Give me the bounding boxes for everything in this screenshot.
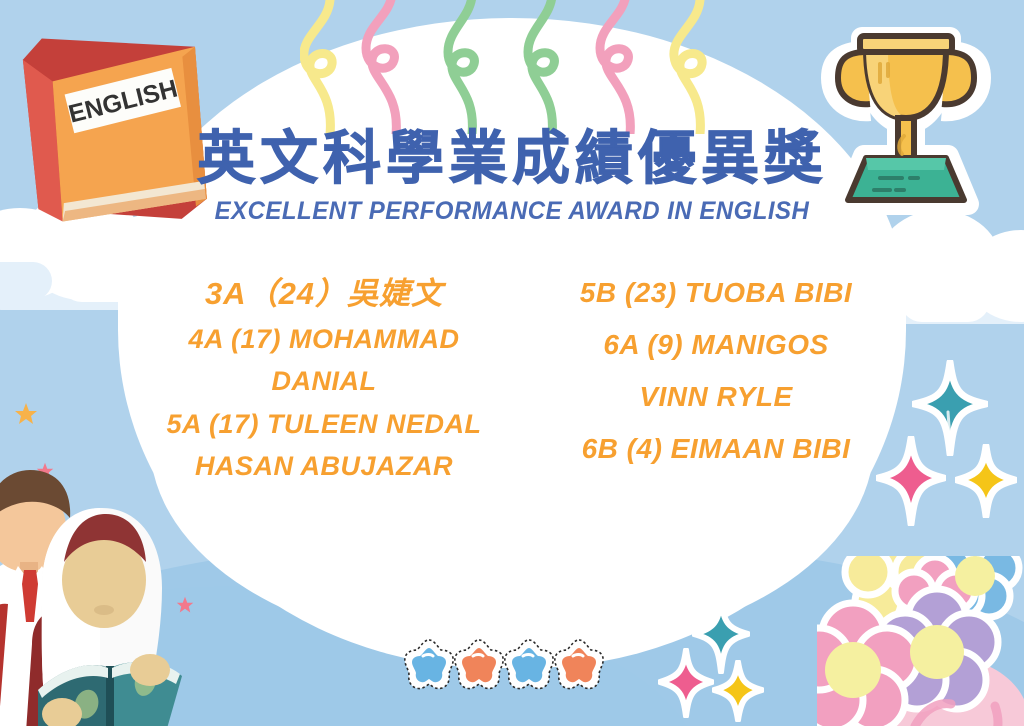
star-sticker-row [404, 634, 604, 704]
awardee-name: 3A（24）吳婕文 [140, 272, 508, 316]
award-poster: ENGLISH 英文科學業成績優異獎 EXCELLEN [0, 0, 1024, 726]
sparkle-icon-yellow [712, 660, 764, 722]
small-star-icon [14, 402, 38, 426]
awardee-name: 6B (4) EIMAAN BIBI [532, 428, 900, 470]
awardee-column-left: 3A（24）吳婕文 4A (17) MOHAMMAD DANIAL 5A (17… [140, 272, 508, 489]
awardee-list: 3A（24）吳婕文 4A (17) MOHAMMAD DANIAL 5A (17… [140, 272, 900, 562]
flower-center [955, 556, 995, 596]
star-sticker-orange [555, 640, 603, 689]
awardee-name: DANIAL [140, 362, 508, 400]
flowers-illustration [817, 556, 1024, 726]
flower-center [825, 642, 881, 698]
sparkle-icon-yellow [955, 444, 1017, 518]
sparkle-icon-pink [876, 436, 946, 526]
awardee-name: 5B (23) TUOBA BIBI [532, 272, 900, 314]
sparkle-icon-pink [658, 648, 714, 718]
star-sticker-blue [405, 640, 453, 689]
flower-center [910, 625, 964, 679]
awardee-column-right: 5B (23) TUOBA BIBI 6A (9) MANIGOS VINN R… [532, 272, 900, 480]
awardee-name: 4A (17) MOHAMMAD [140, 320, 508, 358]
page-title-chinese: 英文科學業成績優異獎 [0, 128, 1024, 189]
page-title-english: EXCELLENT PERFORMANCE AWARD IN ENGLISH [20, 197, 1003, 226]
title-block: 英文科學業成績優異獎 EXCELLENT PERFORMANCE AWARD I… [0, 128, 1024, 226]
awardee-name: VINN RYLE [532, 376, 900, 418]
confetti-streamers-icon [300, 0, 720, 134]
students-illustration [0, 462, 201, 726]
awardee-name: 5A (17) TULEEN NEDAL [140, 405, 508, 443]
star-sticker-blue [505, 640, 553, 689]
star-sticker-orange [455, 640, 503, 689]
awardee-name: 6A (9) MANIGOS [532, 324, 900, 366]
